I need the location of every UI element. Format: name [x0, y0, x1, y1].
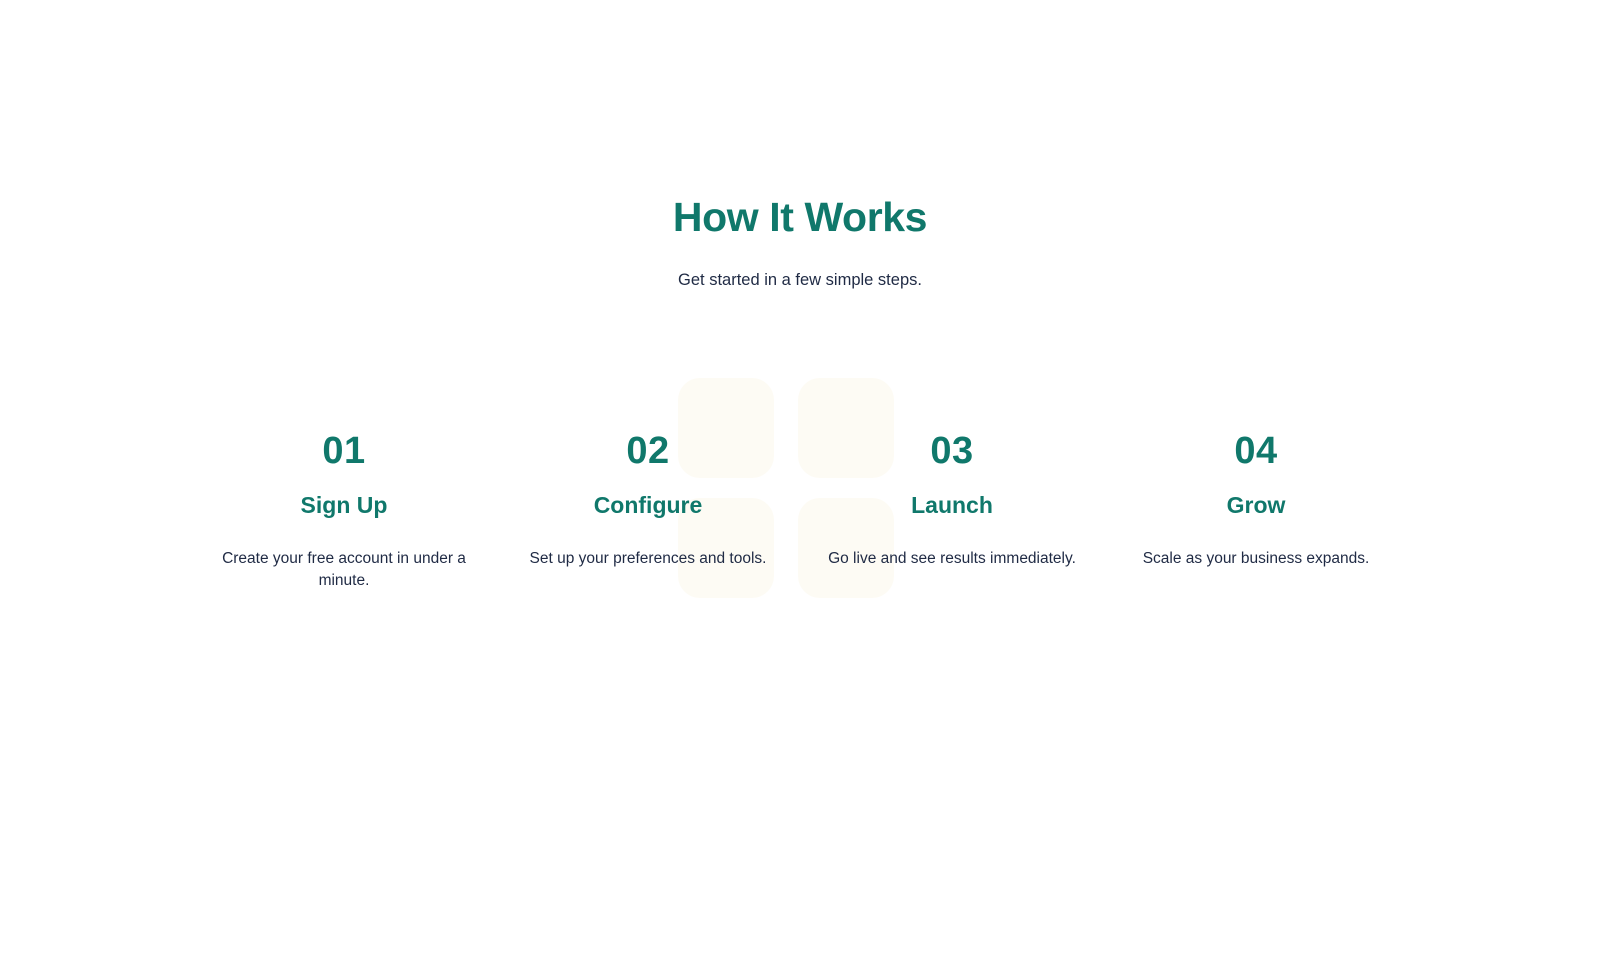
step-description: Scale as your business expands.: [1104, 548, 1408, 570]
step-number: 03: [800, 432, 1104, 470]
how-it-works-section: How It Works Get started in a few simple…: [0, 0, 1600, 978]
step-description: Set up your preferences and tools.: [496, 548, 800, 570]
step-number: 01: [192, 432, 496, 470]
step-card-02: 02 Configure Set up your preferences and…: [496, 432, 800, 570]
step-card-01: 01 Sign Up Create your free account in u…: [192, 432, 496, 592]
step-card-03: 03 Launch Go live and see results immedi…: [800, 432, 1104, 570]
step-title: Grow: [1104, 492, 1408, 520]
step-description: Create your free account in under a minu…: [192, 548, 496, 592]
step-title: Configure: [496, 492, 800, 520]
section-header: How It Works Get started in a few simple…: [0, 0, 1600, 292]
step-description: Go live and see results immediately.: [800, 548, 1104, 570]
section-title: How It Works: [0, 193, 1600, 241]
steps-row: 01 Sign Up Create your free account in u…: [0, 432, 1600, 592]
step-number: 04: [1104, 432, 1408, 470]
step-title: Sign Up: [192, 492, 496, 520]
step-card-04: 04 Grow Scale as your business expands.: [1104, 432, 1408, 570]
step-number: 02: [496, 432, 800, 470]
section-subtitle: Get started in a few simple steps.: [0, 269, 1600, 292]
step-title: Launch: [800, 492, 1104, 520]
